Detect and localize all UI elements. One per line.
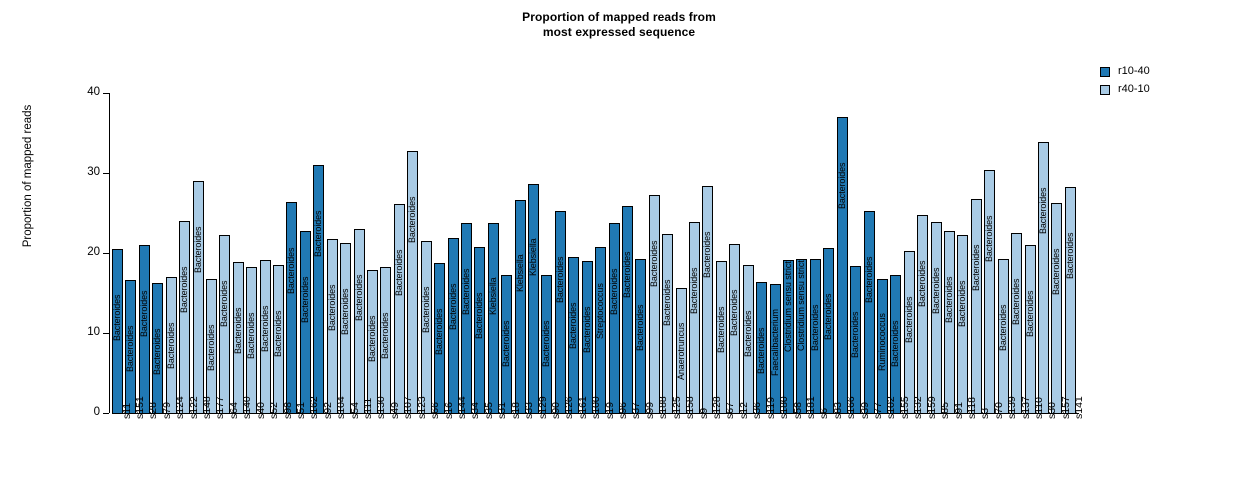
x-axis-label: s30: [1047, 402, 1057, 419]
x-axis-label: s11: [122, 403, 132, 419]
x-axis-label: s128: [712, 396, 722, 419]
x-axis-label: s100: [591, 396, 601, 419]
x-axis-label: s39: [860, 402, 870, 419]
x-axis-label: s123: [417, 396, 427, 419]
x-axis-label: s137: [1021, 396, 1031, 419]
x-axis-label: s66: [430, 402, 440, 419]
x-axis-label: s12: [739, 402, 749, 419]
x-axis-label: s79: [162, 402, 172, 419]
x-axis-label: s49: [390, 402, 400, 419]
x-axis-label: s177: [215, 396, 225, 419]
x-axis-label: s9: [699, 408, 709, 419]
x-axis-label: s3: [980, 408, 990, 419]
x-axis-label: s166: [846, 396, 856, 419]
x-axis-label: s144: [457, 396, 467, 419]
x-axis-label: s159: [927, 396, 937, 419]
x-axis-label: s132: [913, 396, 923, 419]
x-axis-label: s102: [886, 396, 896, 419]
x-axis-label: s155: [900, 396, 910, 419]
x-axis-label: s35: [484, 402, 494, 419]
x-axis-label: s99: [645, 402, 655, 419]
x-axis-label: s162: [309, 396, 319, 419]
x-axis-label: s181: [806, 396, 816, 419]
x-axis-label: s91: [954, 402, 964, 419]
x-axis-label: s148: [202, 396, 212, 419]
x-axis-label: s52: [269, 402, 279, 419]
x-axis-label: s34: [470, 402, 480, 419]
x-axis-label: s126: [564, 396, 574, 419]
x-axis-label: s6: [819, 408, 829, 419]
x-axis-label: s90: [551, 402, 561, 419]
x-axis-label: s104: [336, 396, 346, 419]
x-axis-label: s16: [444, 402, 454, 419]
x-axis-label: s122: [189, 396, 199, 419]
x-axis-label: s58: [793, 402, 803, 419]
x-axis-label: s51: [296, 402, 306, 419]
x-axis-label: s31: [497, 402, 507, 419]
x-axis-label: s64: [229, 402, 239, 419]
x-axis-label: s107: [403, 396, 413, 419]
x-axis-label: s110: [1034, 397, 1044, 419]
x-axis-label: s70: [994, 402, 1004, 419]
x-axis-label: s37: [631, 402, 641, 419]
x-axis-label: s28: [148, 402, 158, 419]
x-axis-label: s36: [752, 402, 762, 419]
x-axis-label: s158: [685, 396, 695, 419]
x-axis-label: s129: [538, 396, 548, 419]
x-axis-label: s77: [873, 402, 883, 419]
x-axis-label: s125: [672, 396, 682, 419]
x-axis-label: s18: [511, 402, 521, 419]
x-axis-labels: s11s151s28s79s124s122s148s177s64s140s40s…: [0, 0, 1238, 500]
x-axis-label: s151: [135, 396, 145, 419]
chart-canvas: Proportion of mapped reads from most exp…: [0, 0, 1238, 500]
x-axis-label: s67: [725, 402, 735, 419]
x-axis-label: s180: [779, 396, 789, 419]
x-axis-label: s161: [578, 396, 588, 419]
x-axis-label: s98: [283, 402, 293, 419]
x-axis-label: s188: [658, 396, 668, 419]
x-axis-label: s141: [1074, 396, 1084, 419]
x-axis-label: s157: [1061, 396, 1071, 419]
x-axis-label: s33: [524, 402, 534, 419]
x-axis-label: s96: [618, 402, 628, 419]
x-axis-label: s140: [242, 396, 252, 419]
x-axis-label: s85: [940, 402, 950, 419]
x-axis-label: s83: [833, 402, 843, 419]
x-axis-label: s54: [350, 402, 360, 419]
x-axis-label: s118: [967, 397, 977, 419]
x-axis-label: s119: [766, 397, 776, 419]
x-axis-label: s111: [363, 398, 373, 419]
x-axis-label: s139: [1007, 396, 1017, 419]
x-axis-label: s19: [605, 402, 615, 419]
x-axis-label: s124: [175, 396, 185, 419]
x-axis-label: s130: [376, 396, 386, 419]
x-axis-label: s92: [323, 402, 333, 419]
x-axis-label: s40: [256, 402, 266, 419]
